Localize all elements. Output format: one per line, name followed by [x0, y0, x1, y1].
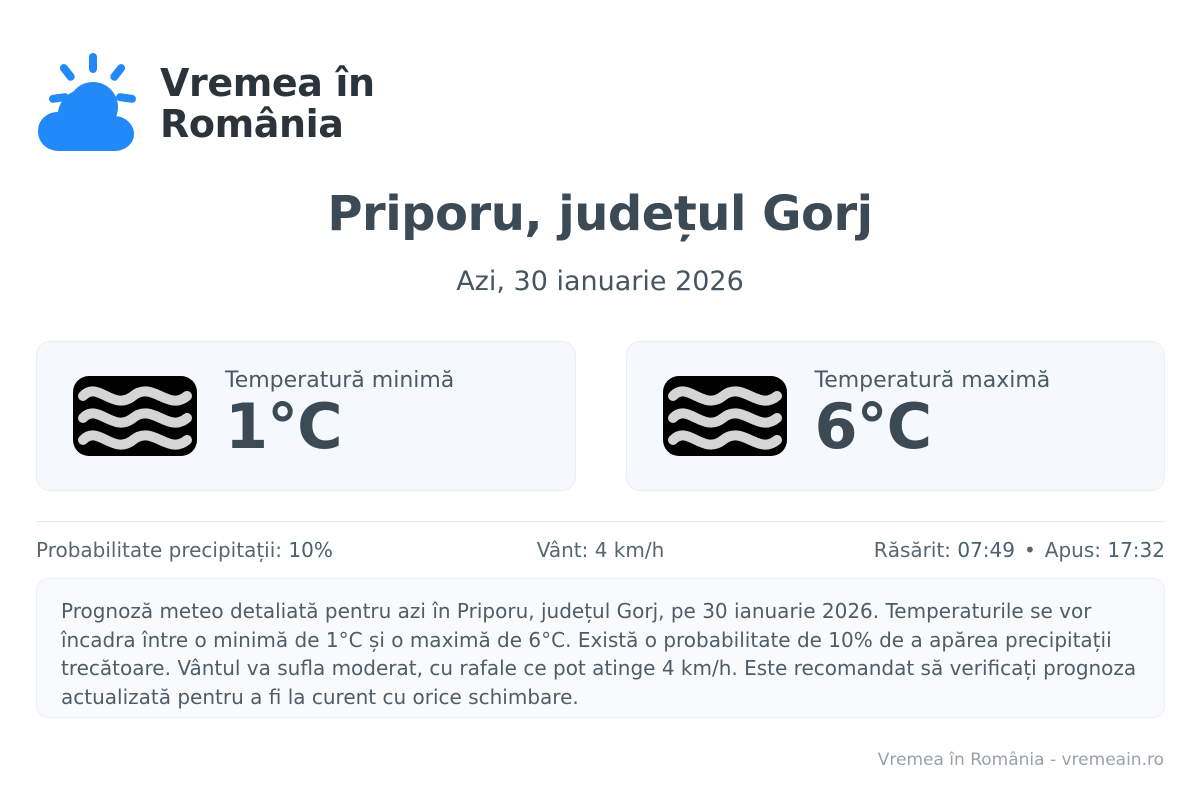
brand-logo[interactable]: Vremea în România — [36, 52, 375, 156]
sunset-label: Apus: — [1045, 538, 1108, 562]
weather-page: Vremea în România Priporu, județul Gorj … — [0, 0, 1200, 800]
sun-behind-cloud-icon — [36, 52, 142, 156]
precipitation-value: 10% — [288, 538, 332, 562]
temperature-max-card: Temperatură maximă 6°C — [626, 341, 1166, 491]
temperature-min-value: 1°C — [225, 394, 454, 461]
sunset-value: 17:32 — [1107, 538, 1165, 562]
sunrise-label: Răsărit: — [874, 538, 958, 562]
temperature-min-card: Temperatură minimă 1°C — [36, 341, 576, 491]
page-subtitle: Azi, 30 ianuarie 2026 — [0, 266, 1200, 297]
footer-credit: Vremea în România - vremeain.ro — [878, 750, 1164, 770]
temperature-cards: Temperatură minimă 1°C Temperatură maxim… — [36, 341, 1165, 491]
temperature-max-value: 6°C — [815, 394, 1051, 461]
section-divider — [36, 521, 1165, 522]
bullet-separator-icon: • — [1015, 538, 1045, 562]
temperature-max-label: Temperatură maximă — [815, 370, 1051, 392]
page-title: Priporu, județul Gorj — [0, 186, 1200, 242]
temperature-min-body: Temperatură minimă 1°C — [225, 370, 454, 461]
wind-info: Vânt: 4 km/h — [499, 538, 702, 562]
forecast-description-box: Prognoză meteo detaliată pentru azi în P… — [36, 578, 1165, 718]
temperature-max-body: Temperatură maximă 6°C — [815, 370, 1051, 461]
wavy-fog-icon — [661, 374, 789, 458]
precipitation-info: Probabilitate precipitații: 10% — [36, 538, 499, 562]
temperature-min-label: Temperatură minimă — [225, 370, 454, 392]
precipitation-label: Probabilitate precipitații: — [36, 538, 288, 562]
conditions-row: Probabilitate precipitații: 10% Vânt: 4 … — [36, 538, 1165, 562]
brand-name: Vremea în România — [160, 63, 375, 145]
sun-times-info: Răsărit: 07:49•Apus: 17:32 — [702, 538, 1165, 562]
forecast-description-text: Prognoză meteo detaliată pentru azi în P… — [61, 597, 1140, 711]
wavy-fog-icon — [71, 374, 199, 458]
sunrise-value: 07:49 — [957, 538, 1015, 562]
